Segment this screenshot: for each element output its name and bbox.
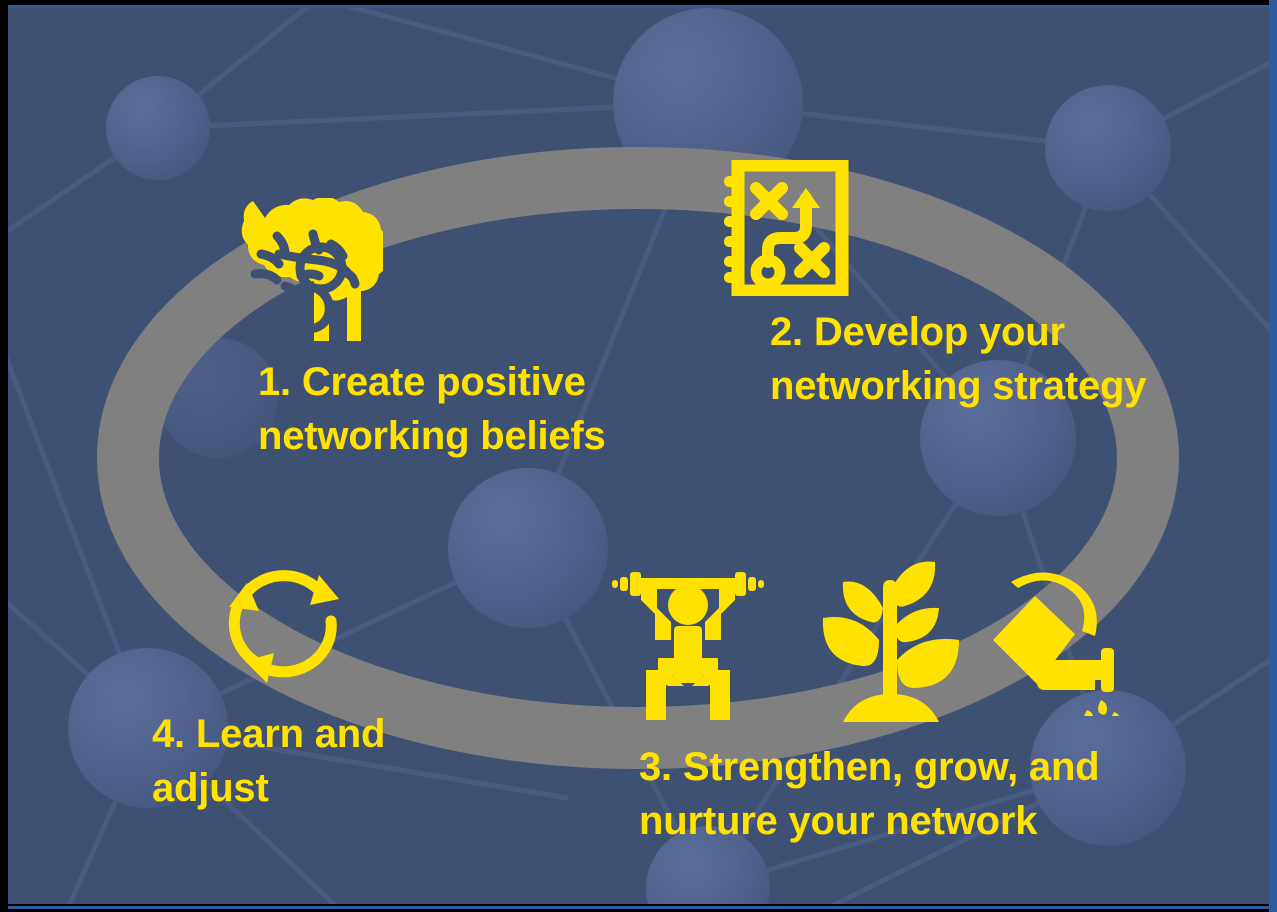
top-accent-stripe [8, 5, 1269, 8]
strategy-playbook-icon [720, 160, 850, 296]
weightlifter-icon [608, 570, 768, 725]
step-1-label: 1. Create positive networking beliefs [258, 356, 606, 463]
slide-canvas: 1. Create positive networking beliefs 2.… [0, 0, 1277, 912]
step-3-label: 3. Strengthen, grow, and nurture your ne… [639, 741, 1099, 848]
cycle-arrows-icon [213, 563, 358, 693]
right-accent-stripe [1269, 0, 1277, 912]
step-2-label: 2. Develop your networking strategy [770, 306, 1146, 413]
brain-icon [213, 198, 383, 343]
step-4-label: 4. Learn and adjust [152, 708, 385, 815]
bottom-accent-stripe [8, 906, 1269, 909]
plant-sprout-icon [813, 560, 963, 726]
slide-inner: 1. Create positive networking beliefs 2.… [8, 8, 1269, 904]
watering-can-icon [983, 566, 1143, 716]
